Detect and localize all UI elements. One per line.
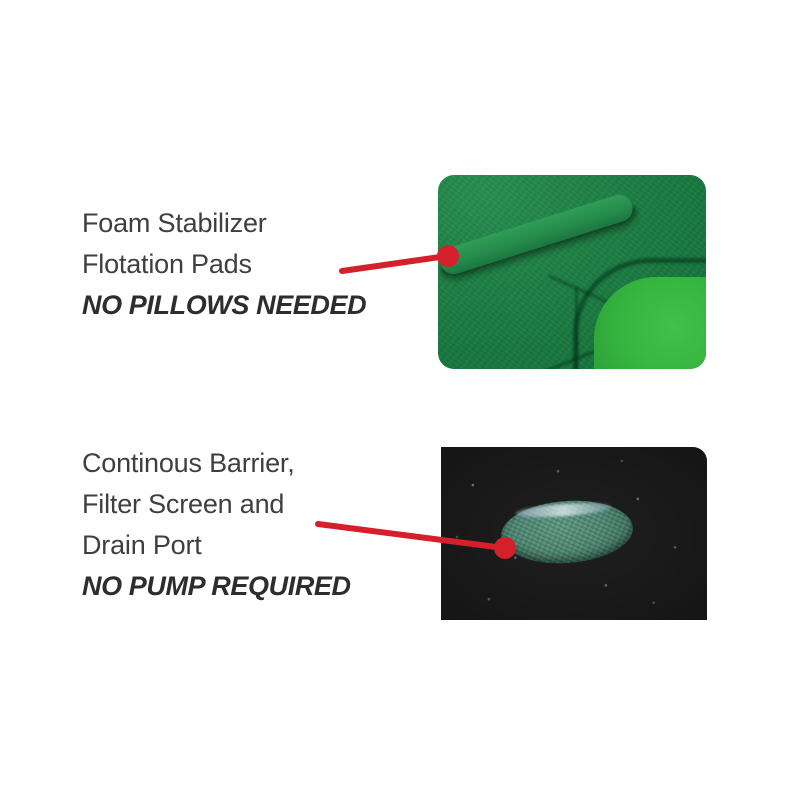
callout-foam-emphasis: NO PILLOWS NEEDED <box>82 285 366 326</box>
diagram-canvas: Foam Stabilizer Flotation Pads NO PILLOW… <box>0 0 800 800</box>
leader-lines-layer <box>0 0 800 800</box>
callout-drain-line-3: Drain Port <box>82 525 351 566</box>
callout-continuous-barrier-text: Continous Barrier, Filter Screen and Dra… <box>82 443 351 607</box>
photo-panel-foam-stabilizer <box>438 175 706 369</box>
callout-foam-line-2: Flotation Pads <box>82 244 366 285</box>
callout-drain-emphasis: NO PUMP REQUIRED <box>82 566 351 607</box>
callout-drain-line-2: Filter Screen and <box>82 484 351 525</box>
callout-drain-line-1: Continous Barrier, <box>82 443 351 484</box>
photo-panel-drain-port <box>441 447 707 620</box>
callout-foam-line-1: Foam Stabilizer <box>82 203 366 244</box>
callout-foam-stabilizer-text: Foam Stabilizer Flotation Pads NO PILLOW… <box>82 203 366 326</box>
